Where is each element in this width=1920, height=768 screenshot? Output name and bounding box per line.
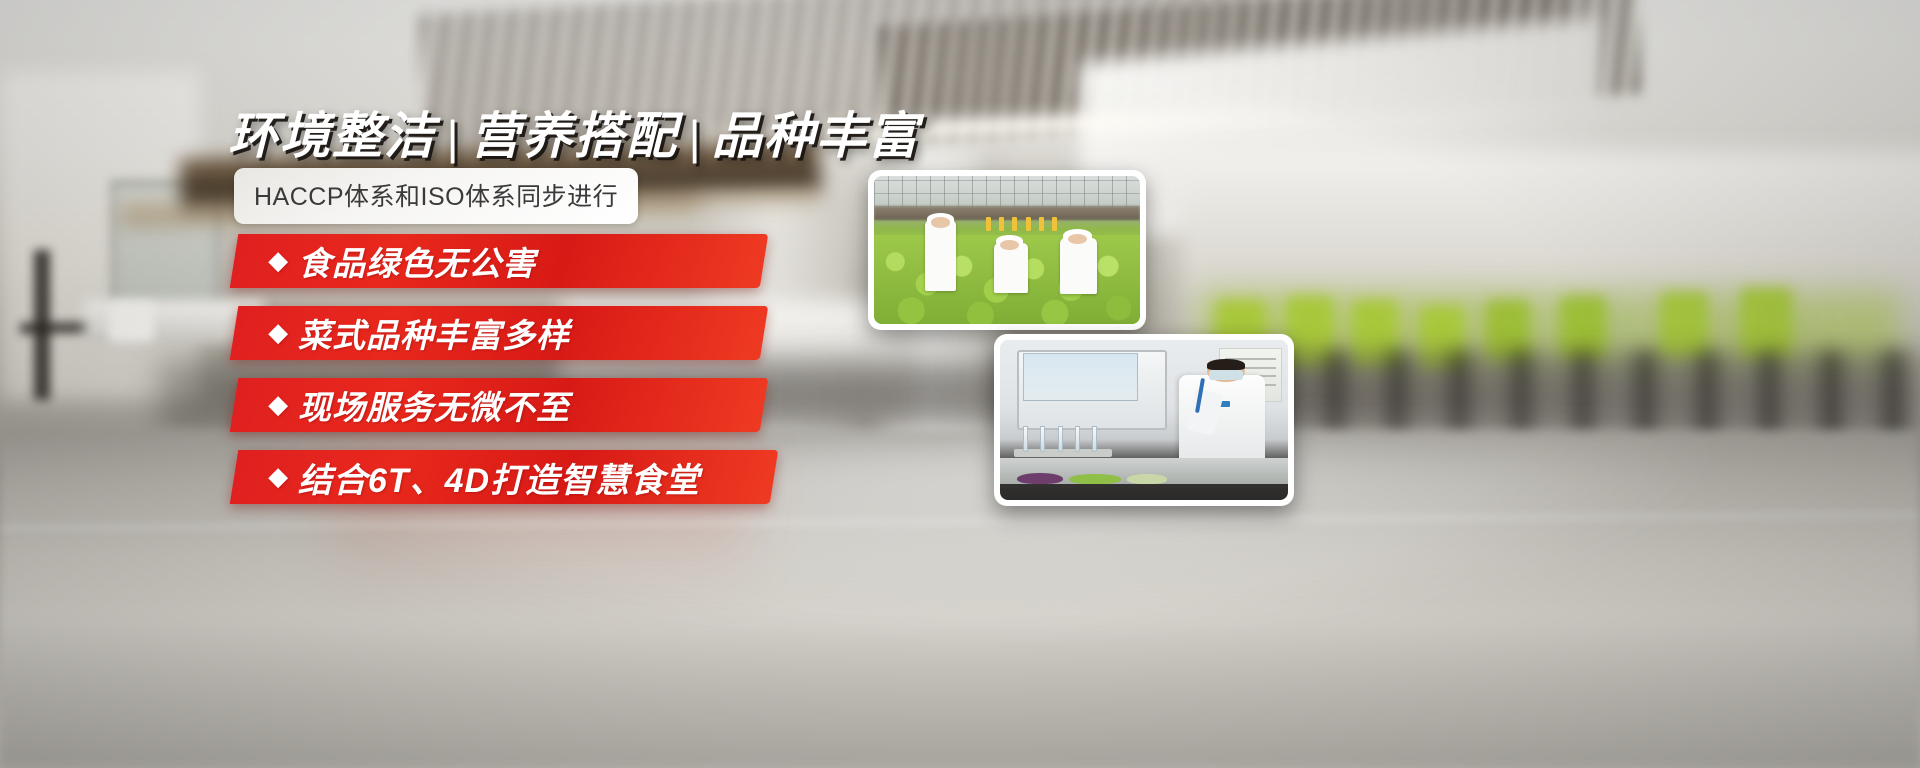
greenhouse-marker (1039, 217, 1044, 230)
lab-glass-panel (1023, 353, 1138, 401)
greenhouse-photo-inner (874, 176, 1140, 324)
lab-eggplant-sample (1017, 473, 1063, 484)
greenhouse-worker-head (931, 217, 950, 227)
greenhouse-marker (1052, 217, 1057, 230)
greenhouse-marker (1026, 217, 1031, 230)
greenhouse-soil-bed (874, 206, 1140, 221)
feature-bar-1[interactable]: ◆ 食品绿色无公害 (230, 234, 769, 288)
greenhouse-inspection-photo (868, 170, 1146, 330)
lab-test-tube-rack (1014, 449, 1112, 457)
feature-bar-4[interactable]: ◆ 结合6T、4D打造智慧食堂 (230, 450, 779, 504)
greenhouse-scene (874, 176, 1140, 324)
feature-bar-4-label: 结合6T、4D打造智慧食堂 (298, 453, 700, 502)
lab-vegetable-sample (1127, 474, 1167, 484)
greenhouse-worker-head (1068, 234, 1087, 244)
greenhouse-worker-head (1000, 240, 1019, 250)
food-lab-testing-photo (994, 334, 1294, 506)
feature-bar-3[interactable]: ◆ 现场服务无微不至 (230, 378, 769, 432)
certification-pill: HACCP体系和ISO体系同步进行 (234, 168, 638, 224)
lab-test-tube (1092, 426, 1097, 452)
diamond-bullet-icon: ◆ (268, 389, 289, 420)
lab-test-tube (1058, 426, 1063, 452)
lab-test-tube (1075, 426, 1080, 452)
banner-content: 环境整洁|营养搭配|品种丰富 HACCP体系和ISO体系同步进行 ◆ 食品绿色无… (0, 0, 1920, 768)
diamond-bullet-icon: ◆ (268, 461, 289, 492)
lab-test-tube (1023, 426, 1028, 452)
headline-separator-1: | (436, 111, 470, 163)
feature-bar-2-label: 菜式品种丰富多样 (298, 309, 570, 357)
feature-bar-1-label: 食品绿色无公害 (298, 237, 536, 285)
greenhouse-marker (999, 217, 1004, 230)
greenhouse-worker-kneeling (1060, 238, 1097, 294)
lab-scene (1000, 340, 1288, 500)
feature-bar-2[interactable]: ◆ 菜式品种丰富多样 (230, 306, 769, 360)
banner-headline: 环境整洁|营养搭配|品种丰富 (228, 96, 920, 168)
lab-test-tube (1040, 426, 1045, 452)
greenhouse-marker (1012, 217, 1017, 230)
diamond-bullet-icon: ◆ (268, 245, 289, 276)
lab-vegetable-sample (1069, 474, 1121, 484)
promo-banner: 环境整洁|营养搭配|品种丰富 HACCP体系和ISO体系同步进行 ◆ 食品绿色无… (0, 0, 1920, 768)
headline-part-2: 营养搭配 (470, 108, 678, 164)
greenhouse-worker-crouching (994, 243, 1029, 293)
feature-bar-3-label: 现场服务无微不至 (298, 381, 570, 429)
lab-technician-hair (1207, 359, 1244, 370)
greenhouse-marker (986, 217, 991, 230)
greenhouse-worker-standing (925, 220, 957, 291)
headline-part-1: 环境整洁 (228, 108, 436, 164)
lab-photo-inner (1000, 340, 1288, 500)
lab-technician-mask (1209, 370, 1244, 380)
headline-separator-2: | (678, 111, 712, 163)
headline-part-3: 品种丰富 (712, 108, 920, 164)
diamond-bullet-icon: ◆ (268, 317, 289, 348)
